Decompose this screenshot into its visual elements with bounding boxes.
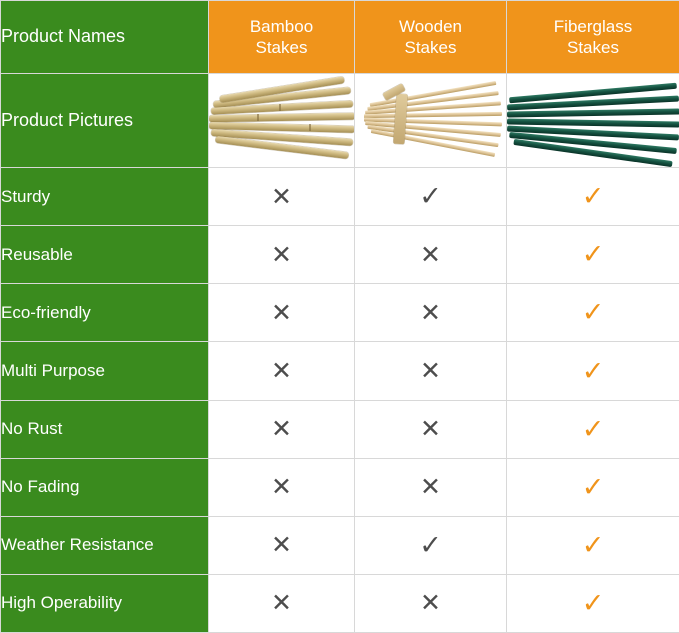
bamboo-stakes-image [209,74,354,167]
row-label-no-fading: No Fading [1,458,209,516]
header-product-wooden-line2: Stakes [355,37,506,58]
check-icon: ✓ [419,181,442,212]
product-image-bamboo-stakes [209,74,355,168]
check-icon: ✓ [419,530,442,561]
table-row-product-pictures: Product Pictures [1,74,679,168]
cross-icon: ✕ [420,356,441,385]
cell-reusable-wooden: ✕ [355,226,507,284]
product-comparison-table: Product Names Bamboo Stakes Wooden Stake… [0,0,679,633]
cell-reusable-bamboo: ✕ [209,226,355,284]
cell-no-rust-bamboo: ✕ [209,400,355,458]
header-product-bamboo: Bamboo Stakes [209,1,355,74]
cell-no-fading-wooden: ✕ [355,458,507,516]
table-row: No Fading ✕ ✕ ✓ [1,458,679,516]
cell-high-operability-fiberglass: ✓ [507,574,679,632]
cell-weather-resistance-wooden: ✓ [355,516,507,574]
header-product-fiberglass-line1: Fiberglass [507,16,679,37]
bamboo-illustration [209,74,354,167]
product-image-fiberglass-stakes [507,74,679,168]
cross-icon: ✕ [271,472,292,501]
table-row: Eco-friendly ✕ ✕ ✓ [1,284,679,342]
cross-icon: ✕ [420,240,441,269]
header-product-names: Product Names [1,1,209,74]
table-row: Multi Purpose ✕ ✕ ✓ [1,342,679,400]
check-icon: ✓ [582,239,605,270]
table-row: Weather Resistance ✕ ✓ ✓ [1,516,679,574]
row-label-reusable: Reusable [1,226,209,284]
cell-eco-friendly-wooden: ✕ [355,284,507,342]
cell-no-rust-wooden: ✕ [355,400,507,458]
cell-multi-purpose-fiberglass: ✓ [507,342,679,400]
row-label-multi-purpose: Multi Purpose [1,342,209,400]
cell-no-fading-bamboo: ✕ [209,458,355,516]
cell-weather-resistance-fiberglass: ✓ [507,516,679,574]
header-product-fiberglass: Fiberglass Stakes [507,1,679,74]
cell-weather-resistance-bamboo: ✕ [209,516,355,574]
cross-icon: ✕ [420,298,441,327]
table-row: High Operability ✕ ✕ ✓ [1,574,679,632]
cross-icon: ✕ [271,182,292,211]
cell-reusable-fiberglass: ✓ [507,226,679,284]
fiberglass-stakes-image [507,74,679,167]
cell-no-fading-fiberglass: ✓ [507,458,679,516]
wooden-stakes-image [355,74,506,167]
cell-multi-purpose-wooden: ✕ [355,342,507,400]
cell-sturdy-fiberglass: ✓ [507,168,679,226]
cross-icon: ✕ [271,240,292,269]
cell-high-operability-bamboo: ✕ [209,574,355,632]
check-icon: ✓ [582,472,605,503]
table-row: Sturdy ✕ ✓ ✓ [1,168,679,226]
check-icon: ✓ [582,414,605,445]
check-icon: ✓ [582,588,605,619]
cross-icon: ✕ [271,414,292,443]
cross-icon: ✕ [271,298,292,327]
row-label-eco-friendly: Eco-friendly [1,284,209,342]
cell-multi-purpose-bamboo: ✕ [209,342,355,400]
row-label-high-operability: High Operability [1,574,209,632]
header-product-bamboo-line1: Bamboo [209,16,354,37]
table-row: Reusable ✕ ✕ ✓ [1,226,679,284]
cell-eco-friendly-fiberglass: ✓ [507,284,679,342]
row-label-product-pictures: Product Pictures [1,74,209,168]
cell-sturdy-wooden: ✓ [355,168,507,226]
product-image-wooden-stakes [355,74,507,168]
header-product-wooden: Wooden Stakes [355,1,507,74]
cell-high-operability-wooden: ✕ [355,574,507,632]
cross-icon: ✕ [271,530,292,559]
cross-icon: ✕ [271,588,292,617]
cross-icon: ✕ [420,472,441,501]
header-product-bamboo-line2: Stakes [209,37,354,58]
cell-sturdy-bamboo: ✕ [209,168,355,226]
row-label-weather-resistance: Weather Resistance [1,516,209,574]
header-product-wooden-line1: Wooden [355,16,506,37]
table-header-row: Product Names Bamboo Stakes Wooden Stake… [1,1,679,74]
cell-eco-friendly-bamboo: ✕ [209,284,355,342]
row-label-sturdy: Sturdy [1,168,209,226]
cross-icon: ✕ [271,356,292,385]
fiberglass-illustration [507,74,679,167]
check-icon: ✓ [582,356,605,387]
cross-icon: ✕ [420,588,441,617]
check-icon: ✓ [582,530,605,561]
check-icon: ✓ [582,297,605,328]
header-product-fiberglass-line2: Stakes [507,37,679,58]
table-row: No Rust ✕ ✕ ✓ [1,400,679,458]
check-icon: ✓ [582,181,605,212]
cell-no-rust-fiberglass: ✓ [507,400,679,458]
wooden-illustration [355,74,506,167]
row-label-no-rust: No Rust [1,400,209,458]
cross-icon: ✕ [420,414,441,443]
